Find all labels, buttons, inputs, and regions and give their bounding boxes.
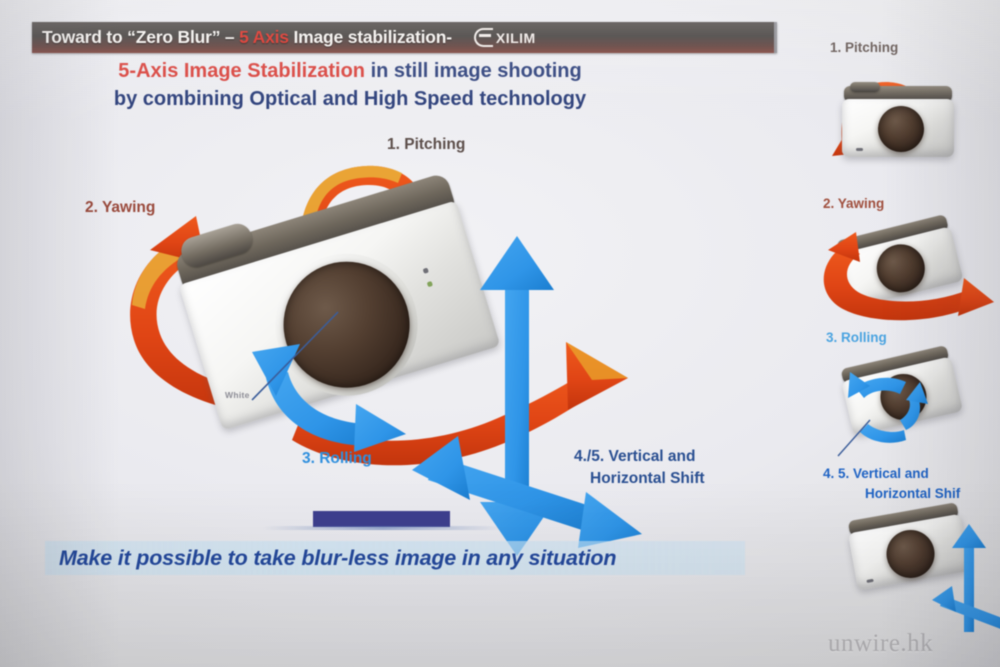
rolling-arrow-front [252,344,406,452]
right-shift-line-1: 4. 5. Vertical and [823,466,929,481]
shift-label-line-2: Horizontal Shift [574,468,705,490]
right-shift-line-2: Horizontal Shif [823,484,960,504]
shift-label-line-1: 4./5. Vertical and [574,448,695,465]
presentation-slide: Toward to “Zero Blur” – 5 Axis Image sta… [0,0,1000,667]
right-label-pitching: 1. Pitching [830,40,898,55]
decorative-blue-bar [313,511,450,527]
watermark: unwire.hk [828,630,933,658]
label-yawing: 2. Yawing [85,199,155,217]
right-label-yawing: 2. Yawing [823,196,884,211]
slide-content-layer: Toward to “Zero Blur” – 5 Axis Image sta… [0,0,1000,667]
conclusion-banner: Make it possible to take blur-less image… [45,541,745,575]
label-white-callout: White [225,390,250,400]
label-vertical-horizontal-shift: 4./5. Vertical and Horizontal Shift [574,446,705,490]
conclusion-text: Make it possible to take blur-less image… [45,541,745,575]
right-label-rolling: 3. Rolling [826,330,887,345]
right-label-shift: 4. 5. Vertical and Horizontal Shif [823,464,960,504]
label-pitching: 1. Pitching [387,136,465,154]
label-rolling: 3. Rolling [302,450,372,468]
